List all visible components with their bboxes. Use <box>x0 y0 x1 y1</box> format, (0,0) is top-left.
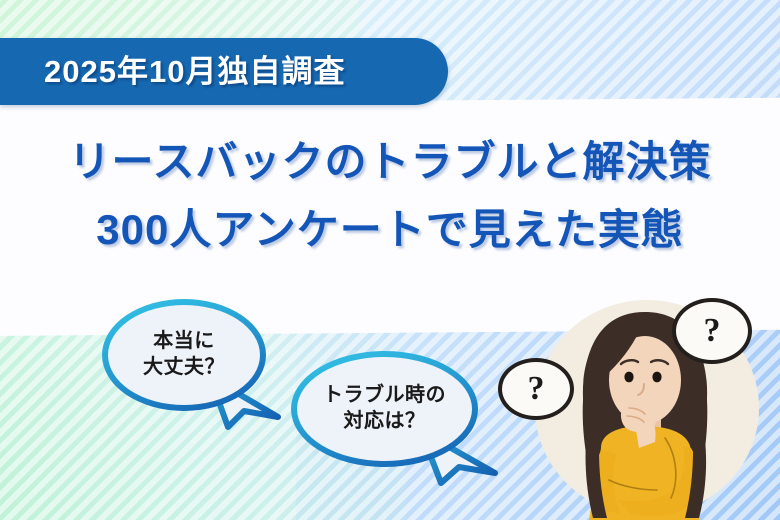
speech-bubble-body: 本当に 大丈夫？ <box>108 305 260 405</box>
speech-bubble-really-ok: 本当に 大丈夫？ <box>108 305 260 405</box>
question-bubble-left: ? <box>498 358 574 420</box>
page-title-line-2: 300人アンケートで見えた実態 <box>0 196 780 264</box>
survey-banner: 2025年10月独自調査 リースバックのトラブルと解決策 300人アンケートで見… <box>0 0 780 520</box>
eye-left <box>624 372 633 383</box>
page-title-line-1: リースバックのトラブルと解決策 <box>0 128 780 196</box>
speech-bubble-trouble-response: トラブル時の 対応は？ <box>297 357 472 461</box>
survey-date-badge-label: 2025年10月独自調査 <box>44 46 345 91</box>
speech-bubble-line-2: 対応は？ <box>323 409 446 435</box>
speech-bubble-line-1: トラブル時の <box>323 383 446 409</box>
question-mark-icon: ? <box>528 372 545 406</box>
speech-bubble-line-2: 大丈夫？ <box>143 355 225 381</box>
page-title: リースバックのトラブルと解決策 300人アンケートで見えた実態 <box>0 128 780 264</box>
question-bubble-right: ? <box>672 298 752 364</box>
speech-bubble-text: 本当に 大丈夫？ <box>143 329 225 380</box>
speech-bubble-body: トラブル時の 対応は？ <box>297 357 472 461</box>
eye-right <box>652 372 661 383</box>
speech-bubble-line-1: 本当に <box>143 329 225 355</box>
question-mark-icon: ? <box>704 314 721 348</box>
speech-bubble-text: トラブル時の 対応は？ <box>323 383 446 434</box>
